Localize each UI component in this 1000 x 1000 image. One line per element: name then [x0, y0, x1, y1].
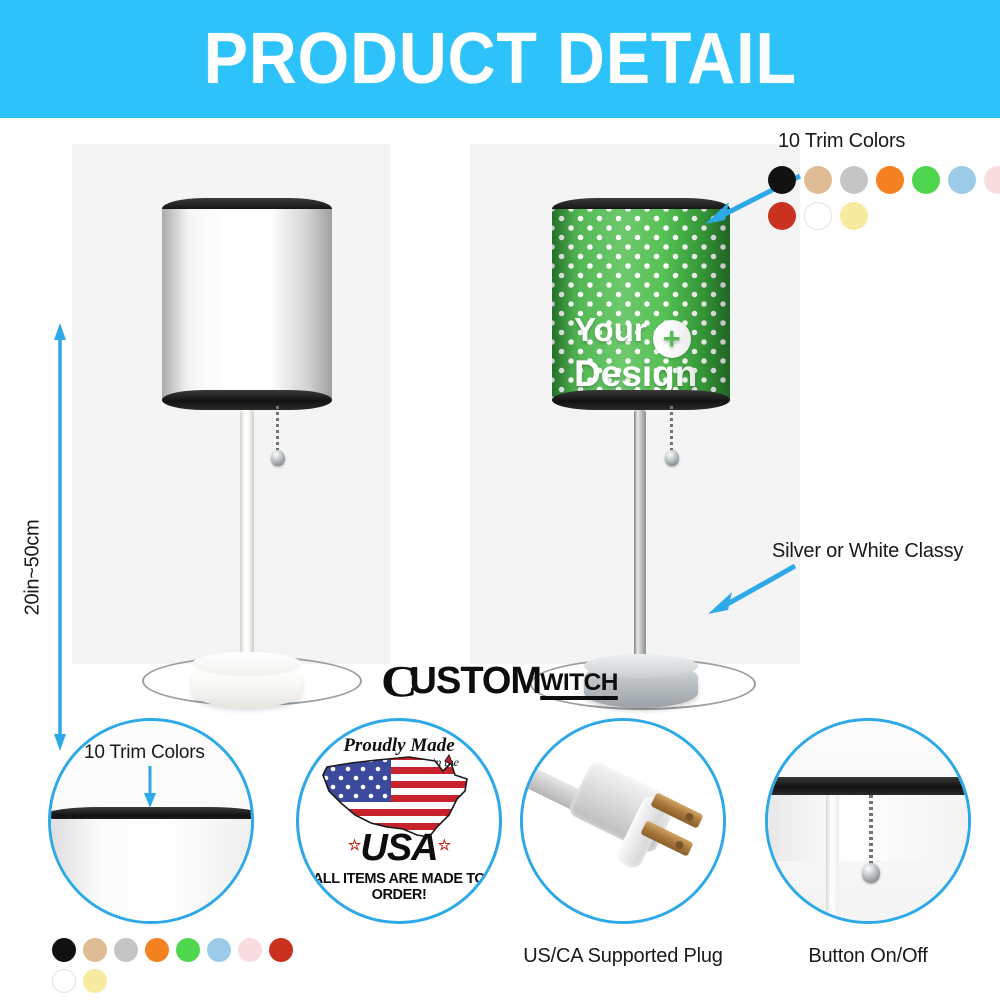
- trim-swatch-red[interactable]: [768, 202, 796, 230]
- logo-witch-text: WITCH: [540, 671, 618, 700]
- page-title: PRODUCT DETAIL: [203, 23, 796, 95]
- pole-closeup: [826, 795, 839, 924]
- trim-swatch-green[interactable]: [176, 938, 200, 962]
- trim-colors-down-arrow: [142, 766, 158, 808]
- lamp-pole-silver: [634, 410, 646, 692]
- trim-swatch-pink[interactable]: [984, 166, 1000, 194]
- plug-prong-hole-lower: [674, 840, 685, 851]
- lampshade-white: [162, 198, 332, 413]
- shade-surface: [162, 209, 332, 401]
- trim-swatch-tan[interactable]: [83, 938, 107, 962]
- feature-circle-switch: [765, 718, 971, 924]
- pull-chain: [276, 406, 279, 454]
- usa-badge: Proudly Made in the: [299, 721, 499, 921]
- header-banner: PRODUCT DETAIL: [0, 0, 1000, 118]
- trim-swatch-light-blue[interactable]: [207, 938, 231, 962]
- trim-swatch-gray[interactable]: [840, 166, 868, 194]
- pull-chain-closeup[interactable]: [869, 795, 873, 869]
- base-finish-pointer-arrow: [700, 558, 800, 618]
- trim-colors-swatches-bottom: [52, 938, 312, 993]
- switch-caption: Button On/Off: [760, 945, 976, 968]
- trim-swatch-red[interactable]: [269, 938, 293, 962]
- trim-swatch-white[interactable]: [52, 969, 76, 993]
- lamp-pole-white: [240, 410, 254, 690]
- trim-swatch-black[interactable]: [768, 166, 796, 194]
- trim-swatch-black[interactable]: [52, 938, 76, 962]
- shade-trim-bottom: [552, 390, 730, 410]
- pull-chain-ball-closeup[interactable]: [862, 863, 880, 883]
- plug-caption: US/CA Supported Plug: [500, 945, 746, 968]
- plug-prong-hole-upper: [684, 812, 695, 823]
- shade-closeup: [48, 819, 254, 924]
- trim-bottom-closeup: [765, 777, 971, 795]
- trim-swatch-orange[interactable]: [876, 166, 904, 194]
- logo-custom-text: USTOM: [410, 662, 542, 700]
- your-design-line2: Design: [552, 355, 730, 393]
- trim-colors-swatches-top: [768, 166, 1000, 230]
- shade-gloss: [162, 209, 332, 401]
- trim-swatch-light-blue[interactable]: [948, 166, 976, 194]
- add-design-badge[interactable]: +: [653, 320, 691, 358]
- trim-swatch-yellow[interactable]: [83, 969, 107, 993]
- feature-circle-made-in-usa: Proudly Made in the: [296, 718, 502, 924]
- pull-chain: [670, 406, 673, 454]
- brand-logo: CUSTOMWITCH: [0, 660, 1000, 704]
- usa-title: ☆USA☆: [299, 827, 499, 870]
- your-design-line1: Your+: [552, 313, 730, 358]
- trim-swatch-yellow[interactable]: [840, 202, 868, 230]
- pull-chain-ball: [271, 450, 285, 466]
- trim-colors-label-top: 10 Trim Colors: [778, 130, 905, 153]
- height-dimension-label: 20in~50cm: [22, 473, 45, 663]
- shade-trim-bottom: [162, 390, 332, 410]
- main-product-area: 7in~18cm 20in~50cm: [0, 118, 1000, 658]
- lamp-white-blank: [120, 188, 380, 658]
- trim-swatch-gray[interactable]: [114, 938, 138, 962]
- pull-chain-ball: [665, 450, 679, 466]
- shade-surface: Your+ Design: [552, 209, 730, 401]
- trim-swatch-pink[interactable]: [238, 938, 262, 962]
- usa-subtitle: ALL ITEMS ARE MADE TO ORDER!: [299, 871, 499, 903]
- trim-colors-label-circle: 10 Trim Colors: [84, 742, 205, 764]
- trim-swatch-tan[interactable]: [804, 166, 832, 194]
- trim-swatch-orange[interactable]: [145, 938, 169, 962]
- base-finish-label: Silver or White Classy: [772, 540, 963, 563]
- usa-star-left: ☆: [348, 837, 360, 854]
- lampshade-green: Your+ Design: [552, 198, 730, 413]
- trim-swatch-green[interactable]: [912, 166, 940, 194]
- usa-star-right: ☆: [438, 837, 450, 854]
- trim-swatch-white[interactable]: [804, 202, 832, 230]
- feature-circle-plug: [520, 718, 726, 924]
- logo-mark-c: C: [381, 660, 412, 704]
